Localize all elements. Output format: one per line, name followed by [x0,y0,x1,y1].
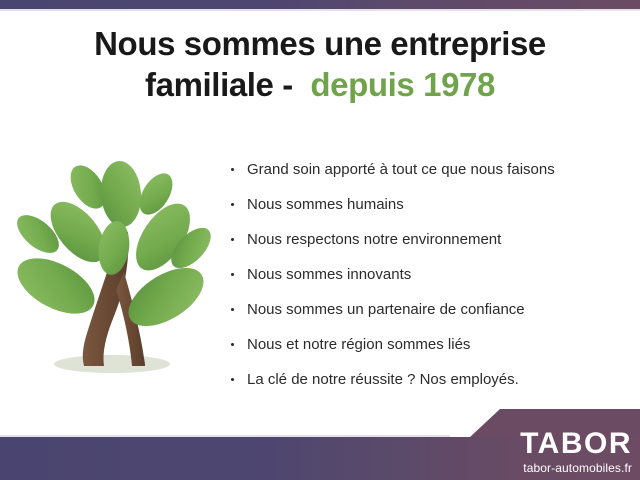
brand-logo[interactable]: TABOR tabor-automobiles.fr [520,429,632,474]
bullet-dot-icon [231,308,234,311]
bullet-dot-icon [231,168,234,171]
title-line-2: familiale - depuis 1978 [0,67,640,104]
list-item-label: Grand soin apporté à tout ce que nous fa… [247,161,555,178]
list-item: Nous et notre région sommes liés [228,327,632,362]
list-item-label: Nous sommes humains [247,196,404,213]
tree-leaf [99,160,144,229]
list-item: Nous sommes innovants [228,257,632,292]
title-line-1: Nous sommes une entreprise [0,26,640,63]
family-tree-illustration [8,152,220,390]
bullet-dot-icon [231,203,234,206]
title-line-2-prefix: familiale - [145,66,293,103]
list-item: Nous sommes un partenaire de confiance [228,292,632,327]
list-item-label: La clé de notre réussite ? Nos employés. [247,371,519,388]
list-item-label: Nous sommes innovants [247,266,411,283]
list-item: Grand soin apporté à tout ce que nous fa… [228,152,632,187]
bullet-dot-icon [231,343,234,346]
list-item: La clé de notre réussite ? Nos employés. [228,362,632,397]
top-accent-bar-hairline [0,9,640,11]
list-item-label: Nous et notre région sommes liés [247,336,470,353]
value-bullet-list: Grand soin apporté à tout ce que nous fa… [228,152,632,397]
bullet-dot-icon [231,378,234,381]
list-item-label: Nous respectons notre environnement [247,231,501,248]
title-accent-since-year: depuis 1978 [310,66,495,103]
bullet-dot-icon [231,273,234,276]
list-item: Nous sommes humains [228,187,632,222]
page-title: Nous sommes une entreprise familiale - d… [0,26,640,104]
brand-tagline-url: tabor-automobiles.fr [520,462,632,474]
top-accent-bar [0,0,640,9]
list-item-label: Nous sommes un partenaire de confiance [247,301,525,318]
list-item: Nous respectons notre environnement [228,222,632,257]
tree-leaf [95,219,132,277]
brand-wordmark: TABOR [520,429,632,459]
bullet-dot-icon [231,238,234,241]
slide-canvas: Nous sommes une entreprise familiale - d… [0,0,640,480]
tree-shadow [54,355,170,373]
